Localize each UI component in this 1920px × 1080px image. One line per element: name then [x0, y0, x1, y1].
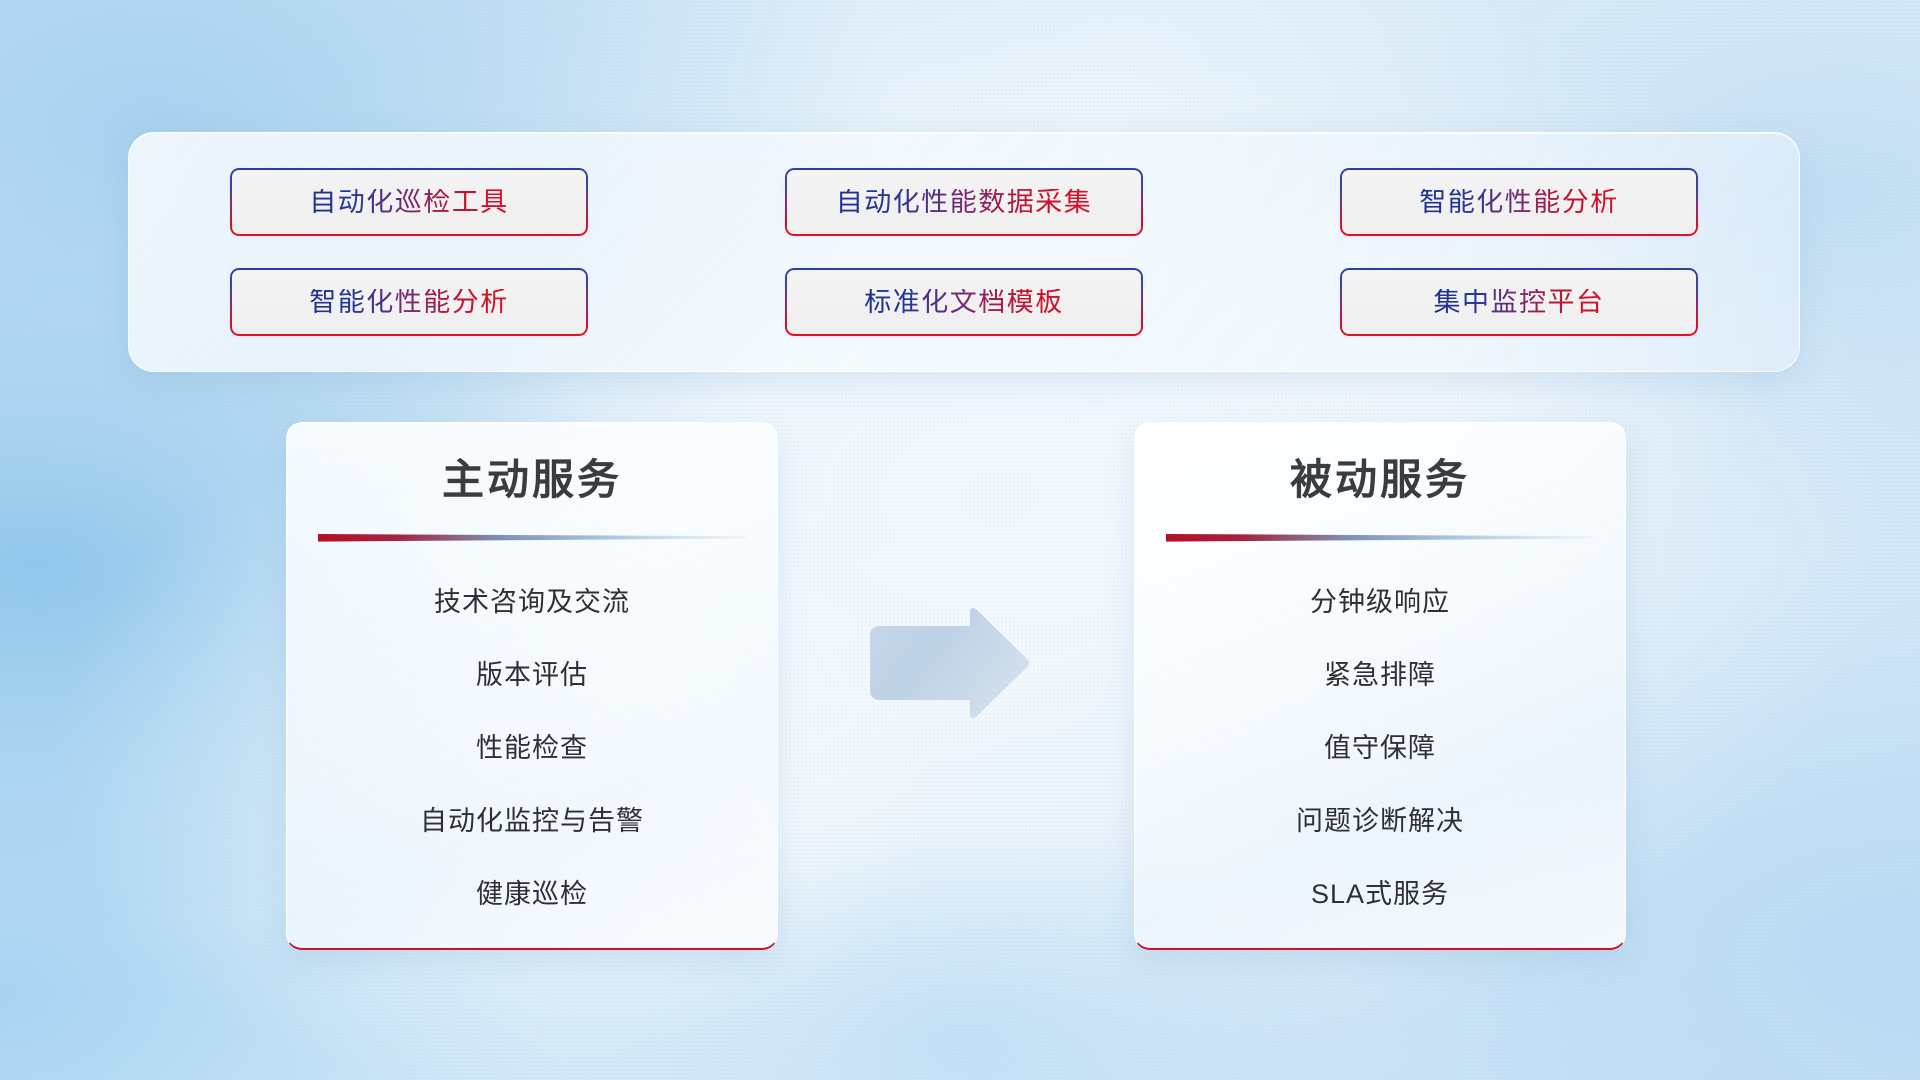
card-item-list: 分钟级响应 紧急排障 值守保障 问题诊断解决 SLA式服务 — [1135, 566, 1625, 931]
card-title: 被动服务 — [1290, 459, 1470, 501]
capability-tag[interactable]: 智能化性能分析 — [1340, 168, 1698, 236]
capability-tag-label: 自动化巡检工具 — [309, 189, 509, 216]
card-title: 主动服务 — [442, 459, 622, 501]
capability-tag-label: 集中监控平台 — [1434, 289, 1605, 316]
service-card-active: 主动服务 技术咨询及交流 版本评估 性能检查 自动化监控与告警 健康巡检 — [286, 422, 778, 950]
capability-tag-grid: 自动化巡检工具 自动化性能数据采集 智能化性能分析 智能化性能分析 标准化文档模… — [230, 168, 1698, 336]
list-item: 分钟级响应 — [1310, 566, 1450, 639]
capability-tags-panel: 自动化巡检工具 自动化性能数据采集 智能化性能分析 智能化性能分析 标准化文档模… — [128, 132, 1800, 372]
capability-tag[interactable]: 自动化性能数据采集 — [785, 168, 1143, 236]
list-item: 版本评估 — [476, 639, 588, 712]
capability-tag-label: 智能化性能分析 — [1419, 189, 1619, 216]
service-card-passive: 被动服务 分钟级响应 紧急排障 值守保障 问题诊断解决 SLA式服务 — [1134, 422, 1626, 950]
card-divider — [318, 529, 746, 538]
list-item: SLA式服务 — [1311, 858, 1449, 931]
capability-tag[interactable]: 集中监控平台 — [1340, 268, 1698, 336]
capability-tag-label: 智能化性能分析 — [309, 289, 509, 316]
list-item: 值守保障 — [1324, 712, 1436, 785]
capability-tag[interactable]: 标准化文档模板 — [785, 268, 1143, 336]
list-item: 技术咨询及交流 — [434, 566, 630, 639]
arrow-right-icon — [866, 608, 1032, 718]
list-item: 健康巡检 — [476, 858, 588, 931]
list-item: 自动化监控与告警 — [420, 785, 644, 858]
card-divider — [1166, 529, 1594, 538]
capability-tag-label: 标准化文档模板 — [864, 289, 1064, 316]
list-item: 问题诊断解决 — [1296, 785, 1464, 858]
capability-tag[interactable]: 智能化性能分析 — [230, 268, 588, 336]
capability-tag-label: 自动化性能数据采集 — [836, 189, 1093, 216]
list-item: 性能检查 — [476, 712, 588, 785]
capability-tag[interactable]: 自动化巡检工具 — [230, 168, 588, 236]
card-item-list: 技术咨询及交流 版本评估 性能检查 自动化监控与告警 健康巡检 — [287, 566, 777, 931]
list-item: 紧急排障 — [1324, 639, 1436, 712]
